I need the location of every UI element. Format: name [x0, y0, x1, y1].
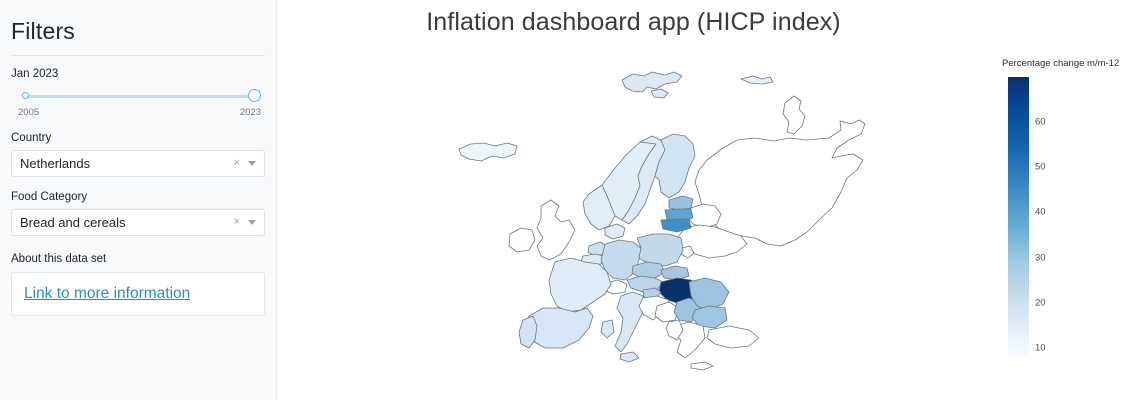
country-field: Country Netherlands × — [11, 131, 265, 177]
date-slider[interactable] — [11, 88, 265, 106]
region-svalbard[interactable] — [622, 72, 682, 92]
country-label: Country — [11, 131, 265, 145]
country-selected-value: Netherlands — [20, 156, 234, 172]
food-category-label: Food Category — [11, 190, 265, 204]
region-slovakia[interactable] — [661, 266, 689, 280]
colorbar-title: Percentage change m/m-12 — [1002, 58, 1137, 70]
colorbar-tick-50: 50 — [1035, 162, 1046, 173]
region-svalbard-east[interactable] — [651, 89, 668, 98]
filters-sidebar: Filters Jan 2023 2005 2023 Country Nethe… — [0, 0, 277, 400]
slider-max-label: 2023 — [240, 107, 261, 118]
sidebar-divider — [11, 55, 265, 56]
food-category-select[interactable]: Bread and cereals × — [11, 209, 265, 236]
region-sicily[interactable] — [620, 352, 639, 362]
food-category-selected-value: Bread and cereals — [20, 215, 234, 231]
more-information-link[interactable]: Link to more information — [24, 285, 190, 303]
page-title: Inflation dashboard app (HICP index) — [277, 8, 1140, 37]
chevron-down-icon[interactable] — [248, 220, 256, 225]
region-italy[interactable] — [615, 292, 645, 352]
colorbar-legend: Percentage change m/m-12 60 50 40 30 20 … — [1002, 58, 1137, 378]
main-panel: Inflation dashboard app (HICP index) — [277, 0, 1140, 400]
about-card: Link to more information — [11, 272, 265, 316]
about-block: About this data set Link to more informa… — [11, 252, 265, 316]
colorbar-tick-20: 20 — [1035, 298, 1046, 309]
region-portugal[interactable] — [519, 316, 537, 348]
region-franz-josef-land[interactable] — [741, 76, 773, 84]
region-turkey[interactable] — [707, 326, 759, 348]
slider-rail[interactable] — [25, 95, 256, 98]
slider-handle[interactable] — [248, 89, 261, 102]
slider-end-labels: 2005 2023 — [11, 107, 265, 118]
chevron-down-icon[interactable] — [248, 161, 256, 166]
region-france[interactable] — [549, 258, 611, 312]
region-estonia[interactable] — [669, 196, 693, 210]
close-icon[interactable]: × — [234, 158, 240, 169]
country-select[interactable]: Netherlands × — [11, 150, 265, 177]
slider-min-label: 2005 — [18, 107, 39, 118]
slider-start-dot — [22, 92, 29, 99]
europe-choropleth-map[interactable] — [437, 58, 887, 388]
colorbar-gradient — [1008, 77, 1029, 357]
colorbar-tick-30: 30 — [1035, 253, 1046, 264]
colorbar-tick-60: 60 — [1035, 117, 1046, 128]
colorbar-tick-10: 10 — [1035, 343, 1046, 354]
date-slider-block: Jan 2023 2005 2023 — [11, 67, 265, 118]
colorbar-area: 60 50 40 30 20 10 — [1002, 77, 1137, 359]
region-poland[interactable] — [637, 234, 683, 266]
close-icon[interactable]: × — [234, 217, 240, 228]
region-united-kingdom[interactable] — [537, 200, 575, 260]
about-label: About this data set — [11, 252, 265, 266]
region-crete[interactable] — [691, 362, 713, 370]
colorbar-tick-40: 40 — [1035, 207, 1046, 218]
filters-title: Filters — [11, 17, 265, 45]
region-novaya-zemlya[interactable] — [783, 96, 805, 134]
slider-value-label: Jan 2023 — [11, 67, 265, 81]
region-sardinia[interactable] — [601, 320, 614, 338]
region-iceland[interactable] — [459, 143, 517, 161]
dashboard-app: Filters Jan 2023 2005 2023 Country Nethe… — [0, 0, 1140, 400]
region-ireland[interactable] — [509, 228, 535, 252]
region-russia[interactable] — [695, 120, 865, 246]
food-category-field: Food Category Bread and cereals × — [11, 190, 265, 236]
